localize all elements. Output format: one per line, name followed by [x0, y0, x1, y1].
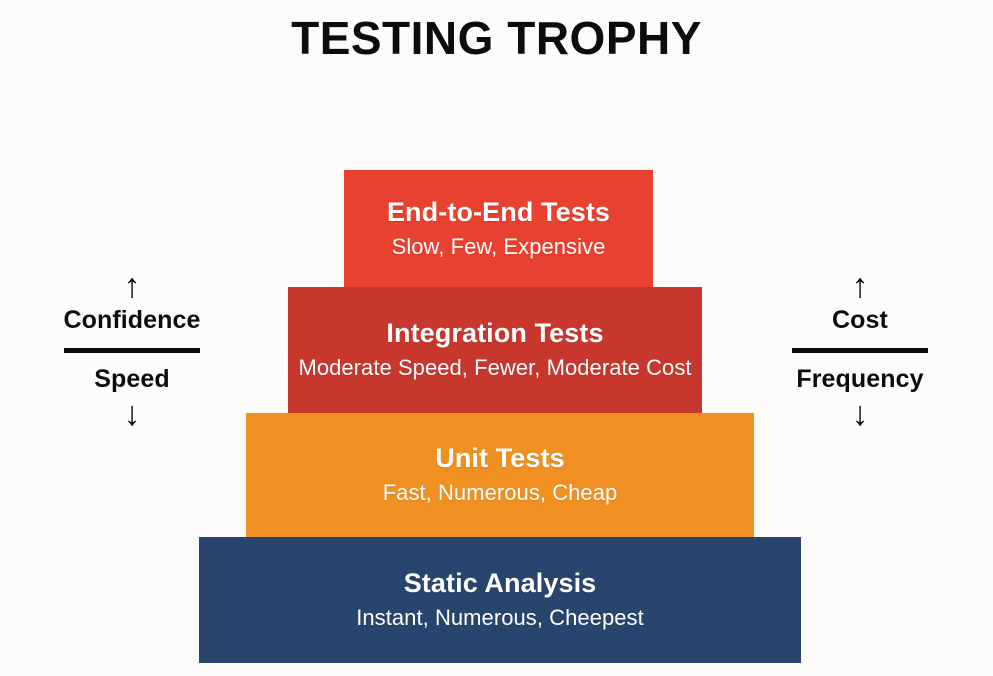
tier-subtitle: Instant, Numerous, Cheepest — [356, 605, 644, 631]
tier-title: Integration Tests — [386, 318, 603, 350]
tier-subtitle: Fast, Numerous, Cheap — [383, 480, 618, 506]
divider-line — [792, 348, 928, 353]
arrow-up-icon: ↑ — [124, 268, 141, 304]
tier-title: Unit Tests — [435, 443, 565, 475]
tier-subtitle: Moderate Speed, Fewer, Moderate Cost — [298, 355, 691, 381]
left-label-confidence: Confidence — [63, 306, 200, 335]
tier-title: Static Analysis — [404, 568, 597, 600]
arrow-up-icon: ↑ — [852, 268, 869, 304]
diagram-canvas: TESTING TROPHY End-to-End Tests Slow, Fe… — [0, 0, 993, 676]
right-label-cost: Cost — [832, 306, 888, 335]
tier-title: End-to-End Tests — [387, 197, 610, 229]
divider-line — [64, 348, 200, 353]
tier-integration-tests[interactable]: Integration Tests Moderate Speed, Fewer,… — [288, 287, 702, 413]
right-label-frequency: Frequency — [796, 365, 923, 394]
tier-unit-tests[interactable]: Unit Tests Fast, Numerous, Cheap — [246, 413, 754, 537]
right-annotation-group: ↑ Cost Frequency ↓ — [760, 268, 960, 432]
arrow-down-icon: ↓ — [124, 396, 141, 432]
arrow-down-icon: ↓ — [852, 396, 869, 432]
left-annotation-group: ↑ Confidence Speed ↓ — [32, 268, 232, 432]
tier-end-to-end-tests[interactable]: End-to-End Tests Slow, Few, Expensive — [344, 170, 653, 287]
left-label-speed: Speed — [94, 365, 170, 394]
tier-subtitle: Slow, Few, Expensive — [392, 234, 606, 260]
tier-static-analysis[interactable]: Static Analysis Instant, Numerous, Cheep… — [199, 537, 801, 663]
